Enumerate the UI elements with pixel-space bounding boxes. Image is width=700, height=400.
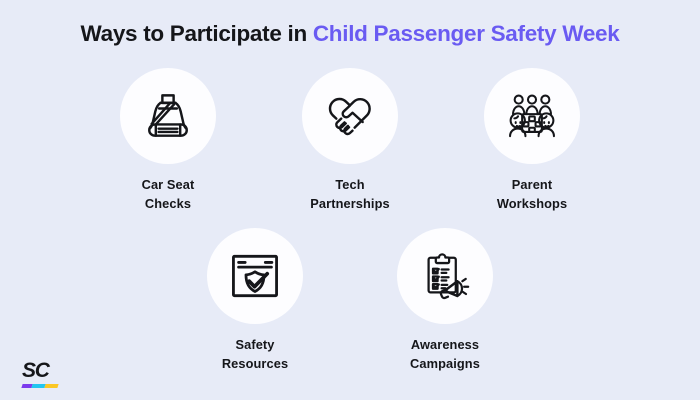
item-safety-resources[interactable]: Safety Resources xyxy=(160,228,350,373)
infographic-canvas: Ways to Participate in Child Passenger S… xyxy=(0,0,700,400)
item-label: Safety Resources xyxy=(222,336,288,373)
item-label-line-1: Tech xyxy=(310,176,389,195)
icon-circle xyxy=(302,68,398,164)
item-label-line-1: Safety xyxy=(222,336,288,355)
group-meeting-icon xyxy=(502,86,562,146)
item-label-line-1: Awareness xyxy=(410,336,480,355)
item-label: Parent Workshops xyxy=(497,176,567,213)
brand-logo-mark: SC xyxy=(22,360,62,381)
item-label-line-1: Parent xyxy=(497,176,567,195)
icon-circle xyxy=(397,228,493,324)
clipboard-megaphone-icon xyxy=(415,246,475,306)
item-label-line-2: Partnerships xyxy=(310,195,389,214)
item-parent-workshops[interactable]: Parent Workshops xyxy=(441,68,623,213)
item-label: Car Seat Checks xyxy=(142,176,195,213)
logo-bar-segment-yellow xyxy=(44,384,58,388)
item-row-1: Car Seat Checks Tech xyxy=(0,68,700,213)
brand-logo[interactable]: SC xyxy=(22,360,62,388)
item-awareness-campaigns[interactable]: Awareness Campaigns xyxy=(350,228,540,373)
icon-circle xyxy=(207,228,303,324)
item-label-line-2: Resources xyxy=(222,355,288,374)
item-label-line-2: Checks xyxy=(142,195,195,214)
item-label: Awareness Campaigns xyxy=(410,336,480,373)
car-seat-icon xyxy=(138,86,198,146)
item-label: Tech Partnerships xyxy=(310,176,389,213)
page-title-accent: Child Passenger Safety Week xyxy=(313,21,620,46)
icon-circle xyxy=(120,68,216,164)
item-row-2: Safety Resources xyxy=(0,228,700,373)
page-title: Ways to Participate in Child Passenger S… xyxy=(0,22,700,47)
brand-logo-underline xyxy=(21,384,58,388)
page-title-plain: Ways to Participate in xyxy=(81,21,313,46)
handshake-heart-icon xyxy=(320,86,380,146)
item-car-seat-checks[interactable]: Car Seat Checks xyxy=(77,68,259,213)
item-label-line-2: Workshops xyxy=(497,195,567,214)
browser-shield-check-icon xyxy=(225,246,285,306)
item-label-line-1: Car Seat xyxy=(142,176,195,195)
item-label-line-2: Campaigns xyxy=(410,355,480,374)
item-tech-partnerships[interactable]: Tech Partnerships xyxy=(259,68,441,213)
icon-circle xyxy=(484,68,580,164)
